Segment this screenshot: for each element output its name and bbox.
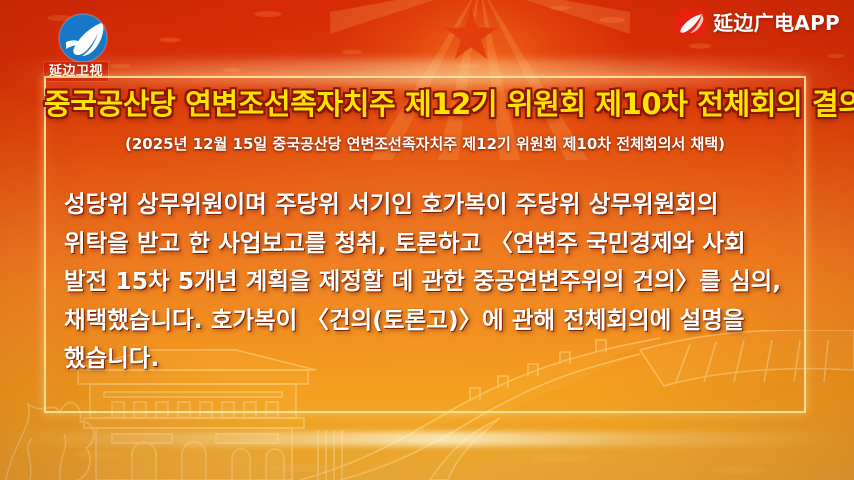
app-watermark-label: 延边广电APP: [713, 13, 840, 33]
red-five-point-star-icon: [443, 8, 499, 64]
app-watermark: 延边广电APP: [676, 10, 840, 36]
body-line: 발전 15차 5개년 계획을 제정할 데 관한 중공연변주위의 건의〉를 심의,: [64, 262, 790, 301]
page-subtitle: (2025년 12월 15일 중국공산당 연변조선족자치주 제12기 위원회 제…: [44, 132, 806, 156]
body-line: 채택했습니다. 호가복이 〈건의(토론고)〉에 관해 전체회의에 설명을: [64, 301, 790, 340]
foliage-outline-icon: [6, 403, 94, 480]
yanbian-tv-logo: [57, 12, 109, 64]
body-line: 했습니다.: [64, 339, 790, 378]
body-line: 위탁을 받고 한 사업보고를 청취, 토론하고 〈연변주 국민경제와 사회: [64, 224, 790, 263]
channel-logo-icon: [57, 12, 109, 64]
light-beam-bottom: [0, 432, 854, 446]
body-line: 성당위 상무위원이며 주당위 서기인 호가복이 주당위 상무위원회의: [64, 185, 790, 224]
red-swoosh-icon: [676, 10, 706, 36]
page-title: 중국공산당 연변조선족자치주 제12기 위원회 제10차 전체회의 결의: [44, 82, 806, 126]
body-text: 성당위 상무위원이며 주당위 서기인 호가복이 주당위 상무위원회의 위탁을 받…: [64, 185, 790, 378]
broadcast-graphic: 延边卫视 延边广电APP 중국공산당 연변조선족자치주 제12기 위원회 제10…: [0, 0, 854, 480]
